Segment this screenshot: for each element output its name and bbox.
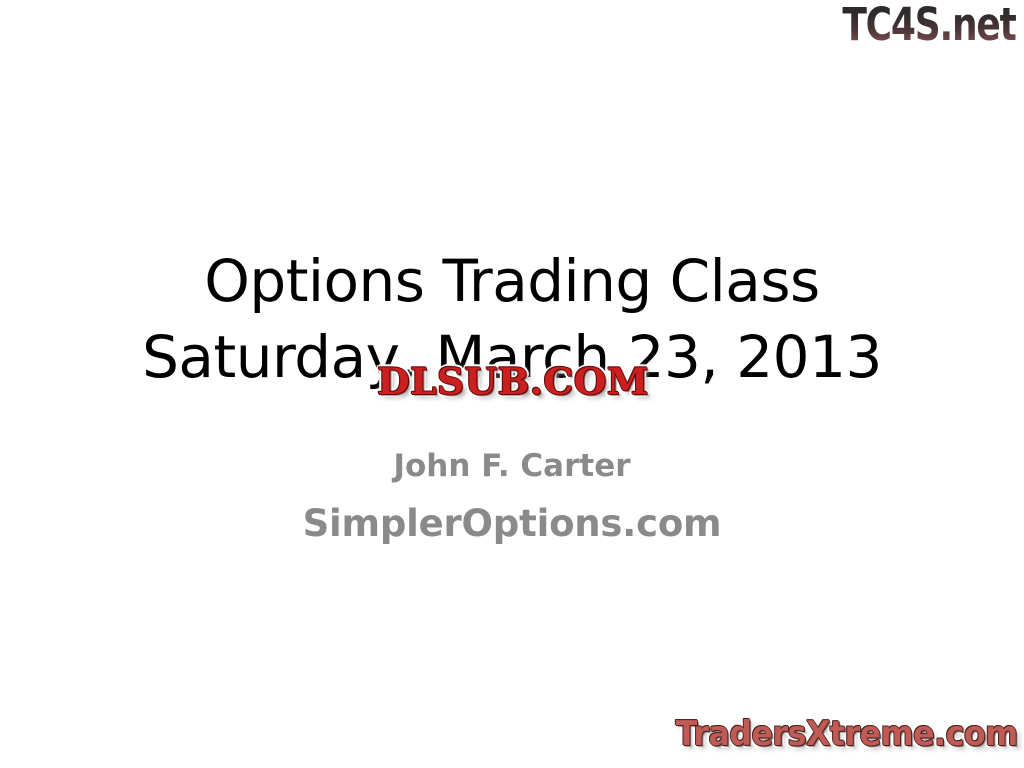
slide-subtitle-block: John F. Carter SimplerOptions.com bbox=[0, 443, 1024, 559]
dlsub-watermark-text: DLSUB.COM bbox=[364, 361, 661, 403]
tradersxtreme-watermark-text: TradersXtreme.com bbox=[676, 712, 1018, 756]
tc4s-brand-logo: TC4S.net bbox=[843, 0, 1016, 50]
dlsub-watermark: DLSUB.COM DLSUB.COM bbox=[370, 361, 656, 403]
presenter-website: SimplerOptions.com bbox=[0, 489, 1024, 559]
presenter-name: John F. Carter bbox=[0, 443, 1024, 489]
slide-title-line-1: Options Trading Class bbox=[0, 243, 1024, 319]
presentation-slide: TC4S.net Options Trading Class Saturday,… bbox=[0, 0, 1024, 768]
